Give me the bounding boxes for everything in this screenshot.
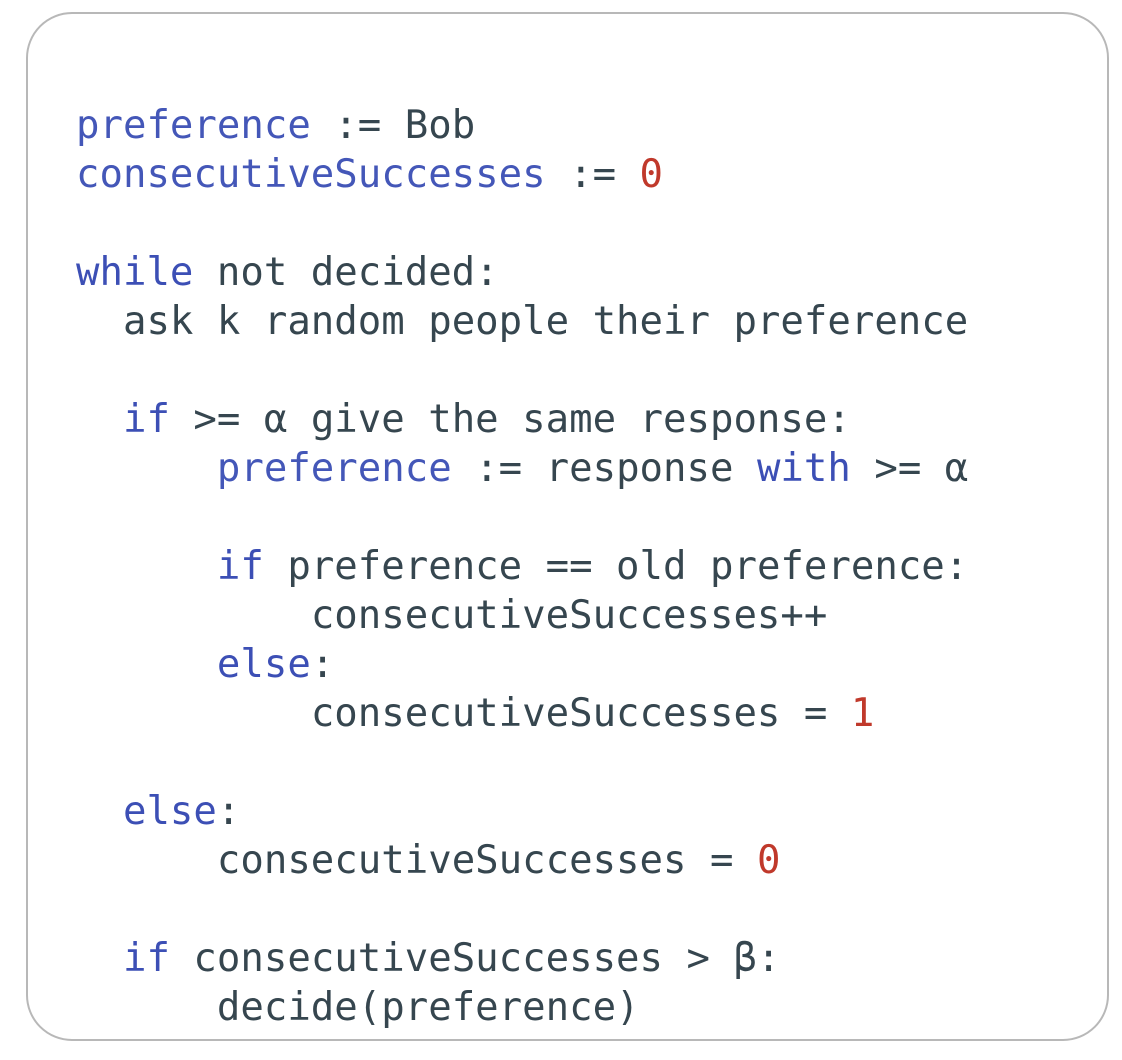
code-line: ask k random people their preference: [76, 297, 968, 346]
code-token-var: preference: [217, 446, 452, 491]
code-indent: [76, 985, 217, 1030]
code-line: while not decided:: [76, 248, 968, 297]
code-token-kw: if: [217, 544, 264, 589]
code-indent: [76, 446, 217, 491]
code-token-txt: consecutiveSuccesses++: [311, 593, 828, 638]
code-line-blank: [76, 346, 968, 395]
page-root: preference := BobconsecutiveSuccesses :=…: [0, 0, 1122, 1060]
code-token-kw: if: [123, 397, 170, 442]
code-indent: [76, 593, 311, 638]
code-indent: [76, 299, 123, 344]
code-token-var: consecutiveSuccesses: [76, 152, 546, 197]
code-line: if preference == old preference:: [76, 542, 968, 591]
code-line-blank: [76, 738, 968, 787]
code-token-txt: :: [217, 789, 240, 834]
code-line-blank: [76, 199, 968, 248]
code-line: else:: [76, 640, 968, 689]
code-line: preference := Bob: [76, 101, 968, 150]
code-line: preference := response with >= α: [76, 444, 968, 493]
code-line: consecutiveSuccesses++: [76, 591, 968, 640]
code-token-num: 0: [640, 152, 663, 197]
code-token-txt: :=: [546, 152, 640, 197]
code-token-txt: consecutiveSuccesses > β:: [170, 936, 780, 981]
code-indent: [76, 544, 217, 589]
code-token-txt: ask k random people their preference: [123, 299, 968, 344]
code-token-txt: >= α: [851, 446, 968, 491]
code-indent: [76, 936, 123, 981]
code-token-txt: :: [311, 642, 334, 687]
code-token-kw: while: [76, 250, 193, 295]
code-indent: [76, 691, 311, 736]
code-token-txt: not decided:: [193, 250, 498, 295]
code-token-kw: if: [123, 936, 170, 981]
code-token-txt: := response: [452, 446, 757, 491]
code-line-blank: [76, 493, 968, 542]
code-token-txt: >= α give the same response:: [170, 397, 851, 442]
code-card: preference := BobconsecutiveSuccesses :=…: [26, 12, 1109, 1041]
code-line: consecutiveSuccesses := 0: [76, 150, 968, 199]
code-line: if consecutiveSuccesses > β:: [76, 934, 968, 983]
code-token-txt: consecutiveSuccesses =: [217, 838, 757, 883]
code-token-num: 0: [757, 838, 780, 883]
code-block[interactable]: preference := BobconsecutiveSuccesses :=…: [76, 101, 968, 1032]
code-line: decide(preference): [76, 983, 968, 1032]
code-line-blank: [76, 885, 968, 934]
code-line: consecutiveSuccesses = 0: [76, 836, 968, 885]
code-line: if >= α give the same response:: [76, 395, 968, 444]
code-indent: [76, 642, 217, 687]
code-token-kw: with: [757, 446, 851, 491]
code-token-txt: decide(preference): [217, 985, 640, 1030]
code-token-kw: else: [123, 789, 217, 834]
code-indent: [76, 397, 123, 442]
code-indent: [76, 838, 217, 883]
code-line: else:: [76, 787, 968, 836]
code-token-num: 1: [851, 691, 874, 736]
code-token-kw: else: [217, 642, 311, 687]
code-indent: [76, 789, 123, 834]
code-token-txt: preference == old preference:: [264, 544, 968, 589]
code-token-txt: consecutiveSuccesses =: [311, 691, 851, 736]
code-token-var: preference: [76, 103, 311, 148]
code-line: consecutiveSuccesses = 1: [76, 689, 968, 738]
code-token-txt: := Bob: [311, 103, 475, 148]
